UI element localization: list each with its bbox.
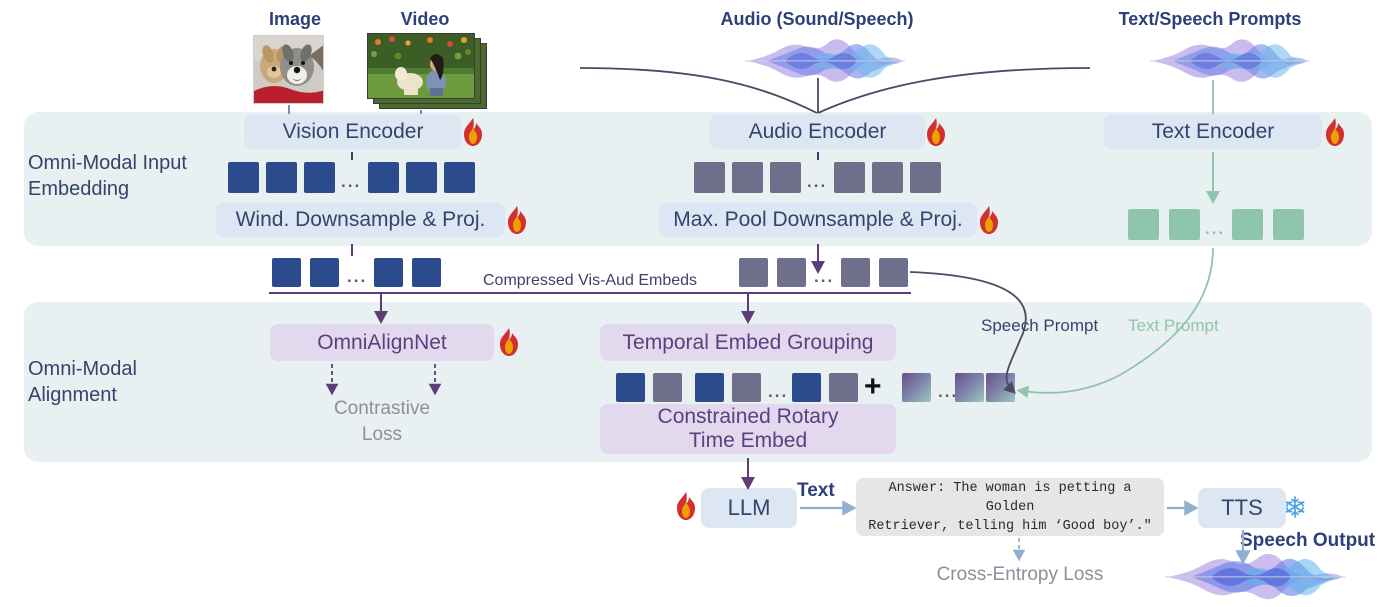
- speech-output-label: Speech Output: [1240, 530, 1375, 552]
- token: [902, 373, 931, 402]
- token: [1169, 209, 1200, 240]
- maxpool-downsample-box[interactable]: Max. Pool Downsample & Proj.: [659, 202, 977, 237]
- flame-icon-maxpool-downsample: [976, 206, 1002, 236]
- text-arrow-label: Text: [797, 480, 835, 502]
- speech-prompt-label: Speech Prompt: [981, 316, 1098, 336]
- answer-line2: Retriever, telling him ‘Good boy’.": [868, 517, 1152, 536]
- speech-output-waveform: [1165, 552, 1345, 602]
- section-label-line1: Omni-Modal Input: [28, 150, 228, 176]
- constrained-rotary-line2: Time Embed: [689, 429, 807, 453]
- temporal-embed-grouping-box[interactable]: Temporal Embed Grouping: [600, 324, 896, 361]
- vision-encoder-box[interactable]: Vision Encoder: [244, 114, 462, 149]
- section-label-alignment: Omni-Modal Alignment: [28, 356, 228, 408]
- token: [872, 162, 903, 193]
- audio-encoder-box[interactable]: Audio Encoder: [710, 114, 925, 149]
- audio-waveform-input: [745, 38, 905, 84]
- section-label-line2: Embedding: [28, 176, 228, 202]
- flame-icon-llm: [673, 492, 699, 522]
- answer-text-box: Answer: The woman is petting a Golden Re…: [856, 478, 1164, 536]
- compressed-embeds-underline: [269, 292, 911, 294]
- token: [955, 373, 984, 402]
- text-encoder-box[interactable]: Text Encoder: [1104, 114, 1322, 149]
- token: [879, 258, 908, 287]
- diagram-canvas: Omni-Modal Input Embedding Omni-Modal Al…: [0, 0, 1400, 605]
- token: [834, 162, 865, 193]
- token: [304, 162, 335, 193]
- omnialignnet-box[interactable]: OmniAlignNet: [270, 324, 494, 361]
- section-label-input-embedding: Omni-Modal Input Embedding: [28, 150, 228, 202]
- input-label-audio: Audio (Sound/Speech): [657, 9, 977, 30]
- token: [1273, 209, 1304, 240]
- token: [272, 258, 301, 287]
- token: [910, 162, 941, 193]
- audio-waveform-text-prompt: [1150, 38, 1310, 84]
- token-ellipsis: ...: [768, 383, 788, 400]
- constrained-rotary-line1: Constrained Rotary: [658, 405, 839, 429]
- token: [732, 162, 763, 193]
- token: [406, 162, 437, 193]
- audio-waveform-art: [1150, 38, 1310, 84]
- image-thumbnail-art: [254, 36, 324, 104]
- constrained-rotary-time-embed-box[interactable]: Constrained Rotary Time Embed: [600, 404, 896, 454]
- contrastive-loss-label: Contrastive Loss: [282, 396, 482, 448]
- section-label-line2: Alignment: [28, 382, 228, 408]
- token: [1232, 209, 1263, 240]
- flame-icon-text-encoder: [1322, 118, 1348, 148]
- input-label-text: Text/Speech Prompts: [1060, 9, 1360, 30]
- audio-waveform-art: [745, 38, 905, 84]
- compressed-embeds-label: Compressed Vis-Aud Embeds: [483, 272, 697, 290]
- flame-icon-vision-encoder: [460, 118, 486, 148]
- llm-box[interactable]: LLM: [701, 488, 797, 528]
- token: [739, 258, 768, 287]
- token-ellipsis: ...: [341, 173, 361, 190]
- tts-box[interactable]: TTS: [1198, 488, 1286, 528]
- token-ellipsis: ...: [814, 268, 834, 285]
- video-frame-art: [368, 34, 474, 98]
- snowflake-icon-tts: [1283, 495, 1307, 519]
- input-label-image: Image: [225, 9, 365, 30]
- flame-icon-audio-encoder: [923, 118, 949, 148]
- text-prompt-label: Text Prompt: [1128, 316, 1219, 336]
- token: [444, 162, 475, 193]
- token: [829, 373, 858, 402]
- token: [310, 258, 339, 287]
- token: [412, 258, 441, 287]
- image-thumbnail: [253, 35, 324, 104]
- token: [653, 373, 682, 402]
- token: [368, 162, 399, 193]
- input-label-video: Video: [355, 9, 495, 30]
- token: [770, 162, 801, 193]
- token: [986, 373, 1015, 402]
- token: [374, 258, 403, 287]
- token-ellipsis: ...: [807, 173, 827, 190]
- wind-downsample-box[interactable]: Wind. Downsample & Proj.: [216, 202, 505, 237]
- answer-line1: Answer: The woman is petting a Golden: [864, 479, 1156, 517]
- cross-entropy-loss-label: Cross-Entropy Loss: [900, 562, 1140, 588]
- token-ellipsis: ...: [347, 268, 367, 285]
- token: [777, 258, 806, 287]
- token: [841, 258, 870, 287]
- section-label-line1: Omni-Modal: [28, 356, 228, 382]
- token: [695, 373, 724, 402]
- token: [266, 162, 297, 193]
- token: [228, 162, 259, 193]
- audio-waveform-art: [1165, 552, 1345, 602]
- token-ellipsis: ...: [1205, 220, 1225, 237]
- flame-icon-wind-downsample: [504, 206, 530, 236]
- flame-icon-omnialignnet: [496, 328, 522, 358]
- token: [792, 373, 821, 402]
- token: [1128, 209, 1159, 240]
- plus-sign: +: [864, 372, 882, 402]
- token: [732, 373, 761, 402]
- token: [616, 373, 645, 402]
- video-frame-front: [367, 33, 475, 99]
- token: [694, 162, 725, 193]
- video-thumbnail: [367, 33, 487, 109]
